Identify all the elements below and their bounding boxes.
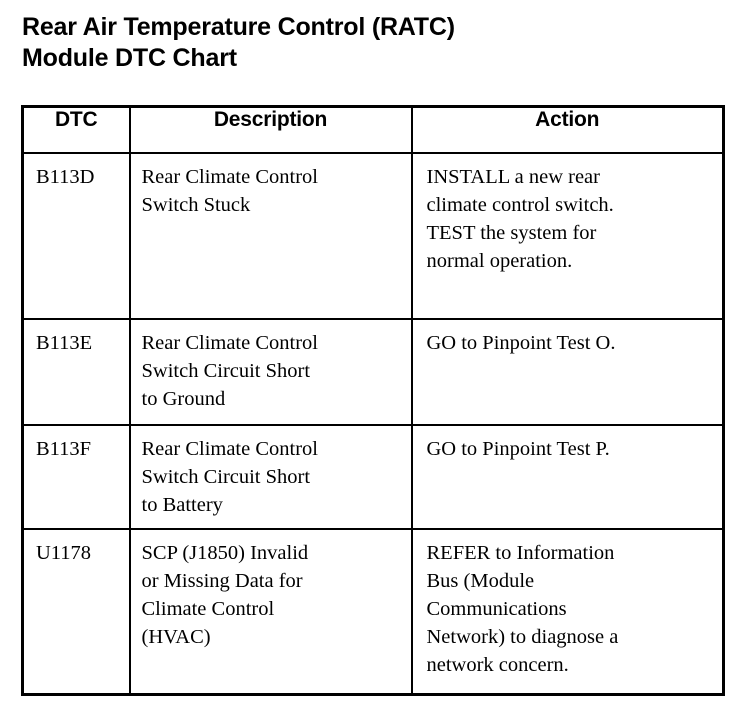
dtc-code-text: B113D xyxy=(24,154,129,199)
cell-description: Rear Climate Control Switch Circuit Shor… xyxy=(130,319,412,425)
cell-action: GO to Pinpoint Test O. xyxy=(412,319,724,425)
action-text: GO to Pinpoint Test P. xyxy=(413,426,723,471)
cell-action: INSTALL a new rear climate control switc… xyxy=(412,153,724,319)
cell-dtc-code: U1178 xyxy=(23,529,130,695)
cell-action: REFER to Information Bus (Module Communi… xyxy=(412,529,724,695)
action-text: INSTALL a new rear climate control switc… xyxy=(413,154,723,283)
table-row: B113D Rear Climate Control Switch Stuck … xyxy=(23,153,724,319)
action-text: REFER to Information Bus (Module Communi… xyxy=(413,530,723,687)
description-text: SCP (J1850) Invalid or Missing Data for … xyxy=(131,530,411,659)
column-header-action: Action xyxy=(412,107,724,154)
cell-dtc-code: B113D xyxy=(23,153,130,319)
description-text: Rear Climate Control Switch Circuit Shor… xyxy=(131,426,411,527)
table-row: B113E Rear Climate Control Switch Circui… xyxy=(23,319,724,425)
dtc-code-text: B113E xyxy=(24,320,129,365)
cell-action: GO to Pinpoint Test P. xyxy=(412,425,724,529)
description-text: Rear Climate Control Switch Circuit Shor… xyxy=(131,320,411,421)
cell-description: Rear Climate Control Switch Stuck xyxy=(130,153,412,319)
table-row: B113F Rear Climate Control Switch Circui… xyxy=(23,425,724,529)
action-text: GO to Pinpoint Test O. xyxy=(413,320,723,365)
column-header-dtc: DTC xyxy=(23,107,130,154)
page-title: Rear Air Temperature Control (RATC) Modu… xyxy=(22,12,722,74)
column-header-description: Description xyxy=(130,107,412,154)
description-text: Rear Climate Control Switch Stuck xyxy=(131,154,411,227)
cell-description: Rear Climate Control Switch Circuit Shor… xyxy=(130,425,412,529)
dtc-chart-table: DTC Description Action B113D Rear Climat… xyxy=(21,105,725,696)
dtc-code-text: B113F xyxy=(24,426,129,471)
cell-description: SCP (J1850) Invalid or Missing Data for … xyxy=(130,529,412,695)
table-header-row: DTC Description Action xyxy=(23,107,724,154)
cell-dtc-code: B113F xyxy=(23,425,130,529)
dtc-code-text: U1178 xyxy=(24,530,129,575)
table-row: U1178 SCP (J1850) Invalid or Missing Dat… xyxy=(23,529,724,695)
cell-dtc-code: B113E xyxy=(23,319,130,425)
